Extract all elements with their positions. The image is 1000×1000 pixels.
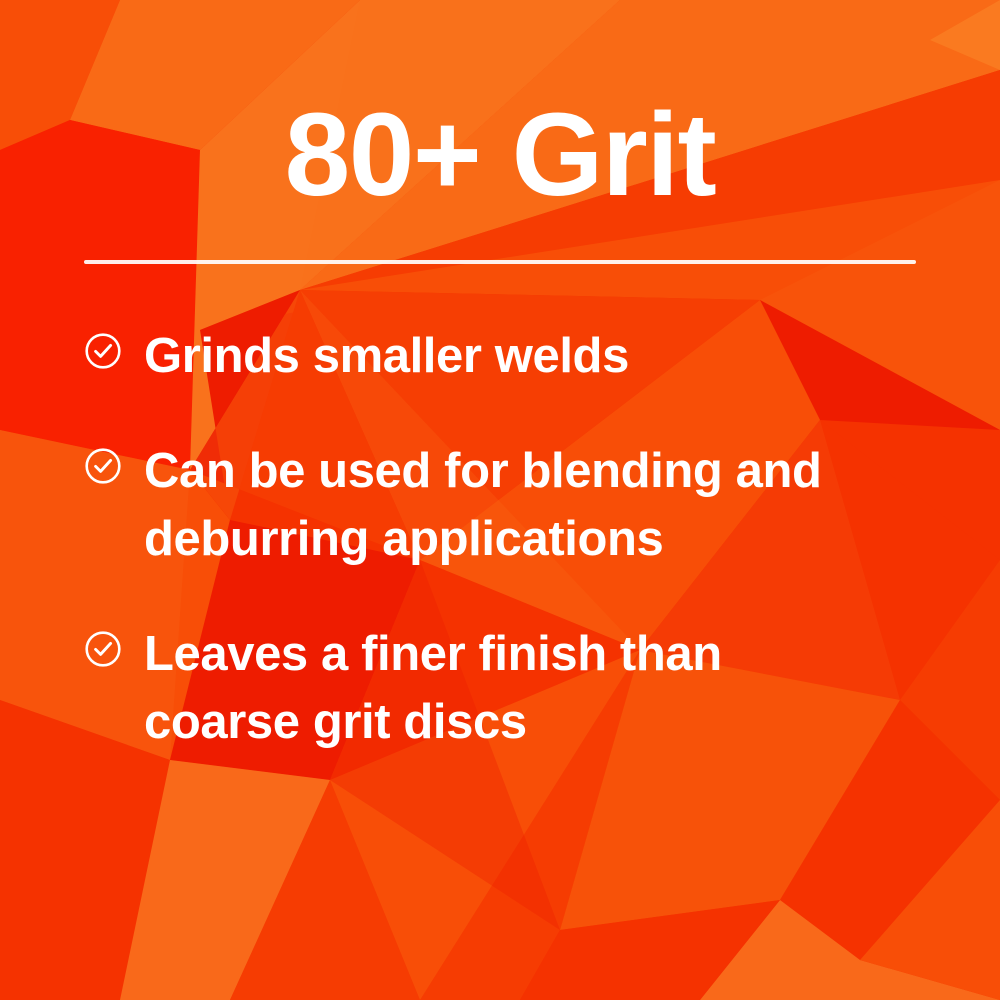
list-item-label: Grinds smaller welds — [144, 322, 629, 391]
title-divider — [84, 260, 916, 264]
check-circle-icon — [84, 332, 122, 370]
list-item-label: Can be used for blending and deburring a… — [144, 437, 874, 574]
check-circle-icon — [84, 630, 122, 668]
list-item: Leaves a finer finish than coarse grit d… — [84, 620, 924, 757]
feature-list: Grinds smaller welds Can be used for ble… — [84, 322, 924, 757]
list-item: Can be used for blending and deburring a… — [84, 437, 924, 574]
list-item-label: Leaves a finer finish than coarse grit d… — [144, 620, 874, 757]
page-title: 80+ Grit — [0, 96, 1000, 214]
check-circle-icon — [84, 447, 122, 485]
list-item: Grinds smaller welds — [84, 322, 924, 391]
product-feature-card: 80+ Grit Grinds smaller welds — [0, 0, 1000, 1000]
